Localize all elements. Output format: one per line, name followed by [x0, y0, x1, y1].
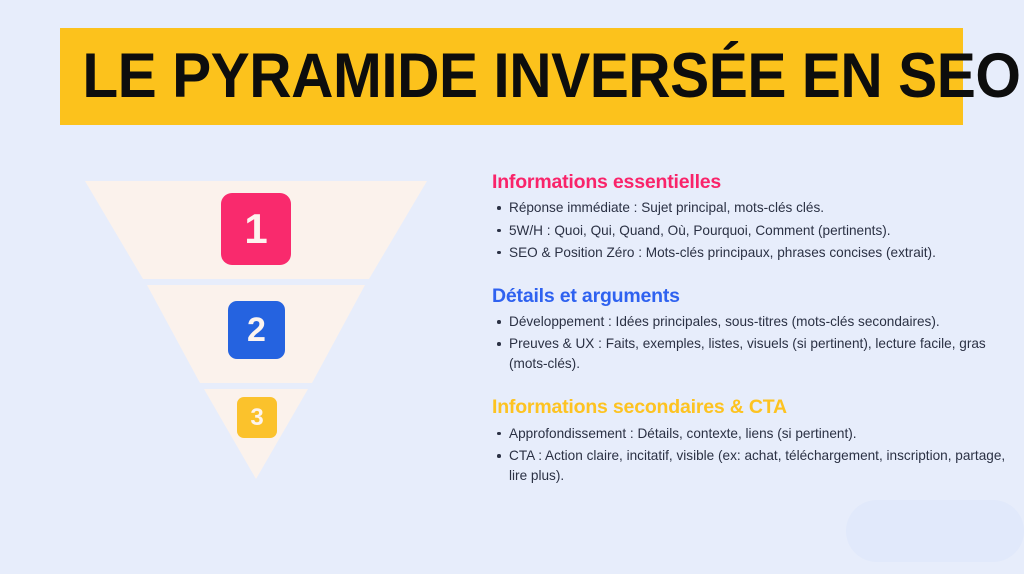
pyramid-badge-1: 1 [221, 193, 291, 265]
section-details-arguments: Détails et arguments Développement : Idé… [492, 285, 1008, 375]
section-heading-secondary: Informations secondaires & CTA [492, 396, 1008, 419]
bullet-list-secondary: Approfondissement : Détails, contexte, l… [492, 424, 1008, 486]
list-item: Preuves & UX : Faits, exemples, listes, … [492, 334, 1008, 374]
section-secondary-cta: Informations secondaires & CTA Approfond… [492, 396, 1008, 486]
list-item: Approfondissement : Détails, contexte, l… [492, 424, 1008, 444]
title-banner: LE PYRAMIDE INVERSÉE EN SEO [60, 28, 963, 125]
list-item: Développement : Idées principales, sous-… [492, 312, 1008, 332]
section-essential-information: Informations essentielles Réponse immédi… [492, 171, 1008, 263]
decorative-pill-shape [846, 500, 1024, 562]
content-sections: Informations essentielles Réponse immédi… [492, 171, 1008, 488]
list-item: 5W/H : Quoi, Qui, Quand, Où, Pourquoi, C… [492, 221, 1008, 241]
pyramid-badge-2: 2 [228, 301, 285, 359]
list-item: Réponse immédiate : Sujet principal, mot… [492, 198, 1008, 218]
bullet-list-essential: Réponse immédiate : Sujet principal, mot… [492, 198, 1008, 262]
pyramid-badge-3: 3 [237, 397, 277, 438]
infographic-canvas: LE PYRAMIDE INVERSÉE EN SEO 1 2 3 Inform… [0, 0, 1024, 574]
list-item: CTA : Action claire, incitatif, visible … [492, 446, 1008, 486]
section-heading-essential: Informations essentielles [492, 171, 1008, 194]
list-item: SEO & Position Zéro : Mots-clés principa… [492, 243, 1008, 263]
bullet-list-details: Développement : Idées principales, sous-… [492, 312, 1008, 374]
page-title: LE PYRAMIDE INVERSÉE EN SEO [60, 45, 1020, 108]
section-heading-details: Détails et arguments [492, 285, 1008, 308]
